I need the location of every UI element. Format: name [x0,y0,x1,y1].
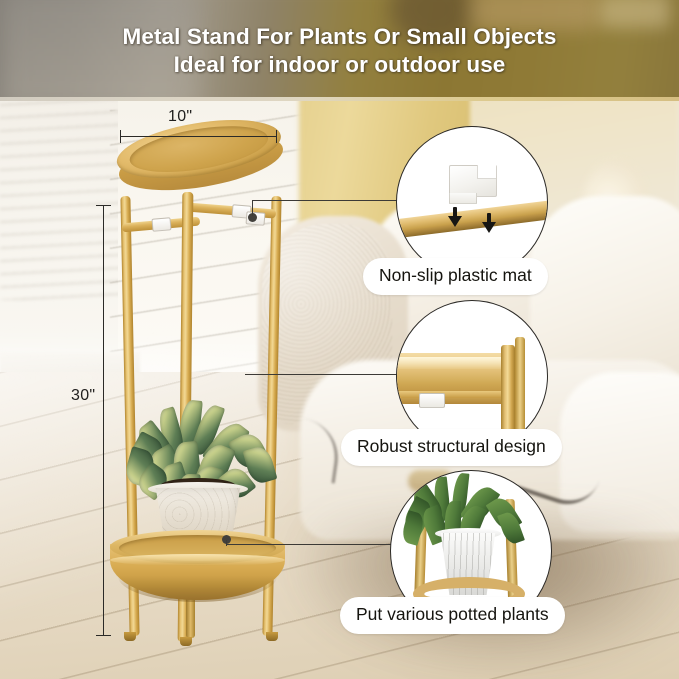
product-infographic: 10" 30" Non-slip plastic mat [0,0,679,679]
callout-label-structural-design: Robust structural design [341,429,562,466]
detail-tray-rim-highlight [396,357,511,369]
lead-line-plant [226,544,416,545]
callout-label-non-slip-mat: Non-slip plastic mat [363,258,548,295]
height-dimension-cap-bottom [96,635,111,636]
lead-line-structure [245,374,415,375]
detail-shelf-edge [396,391,505,398]
detail-white-clip [419,393,445,408]
callout-non-slip-mat [396,126,548,278]
lead-line-mat-riser [252,200,253,216]
callout-label-potted-plants: Put various potted plants [340,597,565,634]
width-dimension-line [121,136,277,137]
height-dimension-line [103,206,104,636]
room-background [0,0,679,679]
plastic-mat-tab [449,193,477,204]
lead-line-mat [252,200,412,201]
floor-light-sheen [0,350,290,679]
banner-title-line-2: Ideal for indoor or outdoor use [174,52,506,78]
width-dimension-cap-left [120,130,121,143]
banner-title-line-1: Metal Stand For Plants Or Small Objects [122,24,556,50]
width-dimension-cap-right [276,130,277,143]
header-banner: Metal Stand For Plants Or Small Objects … [0,0,679,101]
height-dimension-cap-top [96,205,111,206]
width-dimension-label: 10" [168,108,192,126]
sofa-seat-cushion-right [560,372,679,532]
plastic-mat-notch [477,165,496,179]
sofa-back-cushion-right [530,196,679,386]
height-dimension-label: 30" [71,387,95,405]
lead-line-plant-riser [226,540,227,546]
banner-bottom-rule [0,97,679,101]
banner-text-block: Metal Stand For Plants Or Small Objects … [0,0,679,101]
